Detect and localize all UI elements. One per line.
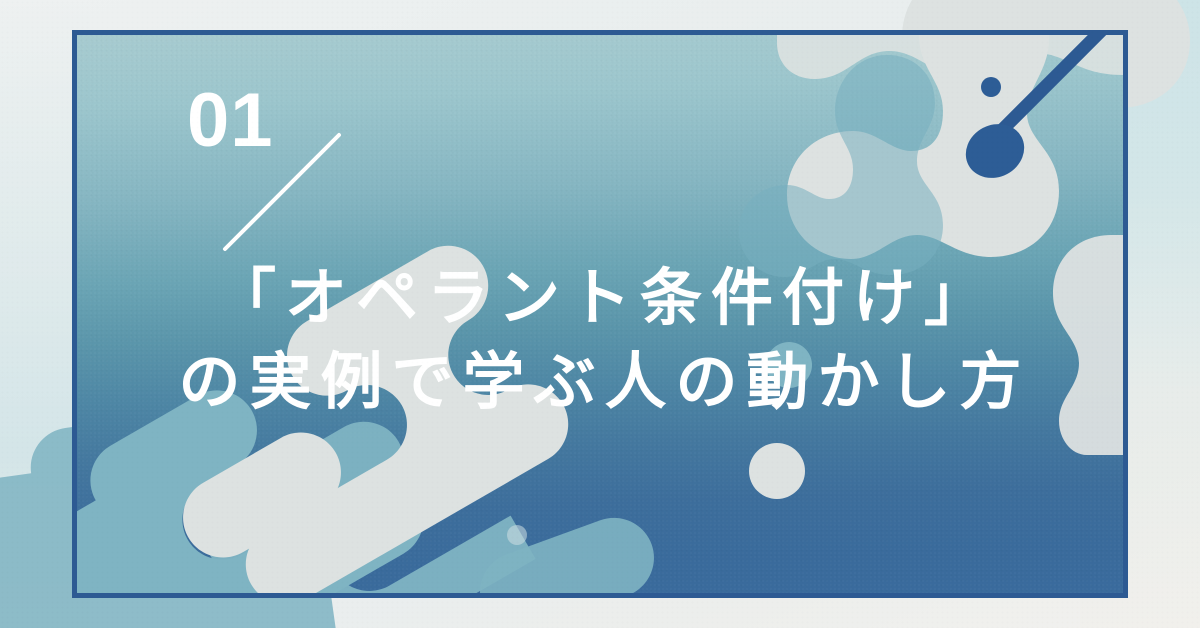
bottom-tiny-dot bbox=[507, 525, 527, 545]
title-card-canvas: 01 「オペラント条件付け」 の実例で学ぶ人の動かし方 bbox=[0, 0, 1200, 628]
title-block: 「オペラント条件付け」 の実例で学ぶ人の動かし方 bbox=[77, 257, 1123, 426]
decorative-frame: 01 「オペラント条件付け」 の実例で学ぶ人の動かし方 bbox=[72, 30, 1128, 598]
panel-gradient-background: 01 「オペラント条件付け」 の実例で学ぶ人の動かし方 bbox=[77, 35, 1123, 593]
top-right-small-dot bbox=[981, 77, 1001, 97]
bottom-gray-circle bbox=[749, 443, 805, 499]
diagonal-slash-icon bbox=[217, 127, 347, 257]
title-line-2: の実例で学ぶ人の動かし方 bbox=[77, 341, 1123, 425]
title-line-1: 「オペラント条件付け」 bbox=[77, 257, 1123, 341]
